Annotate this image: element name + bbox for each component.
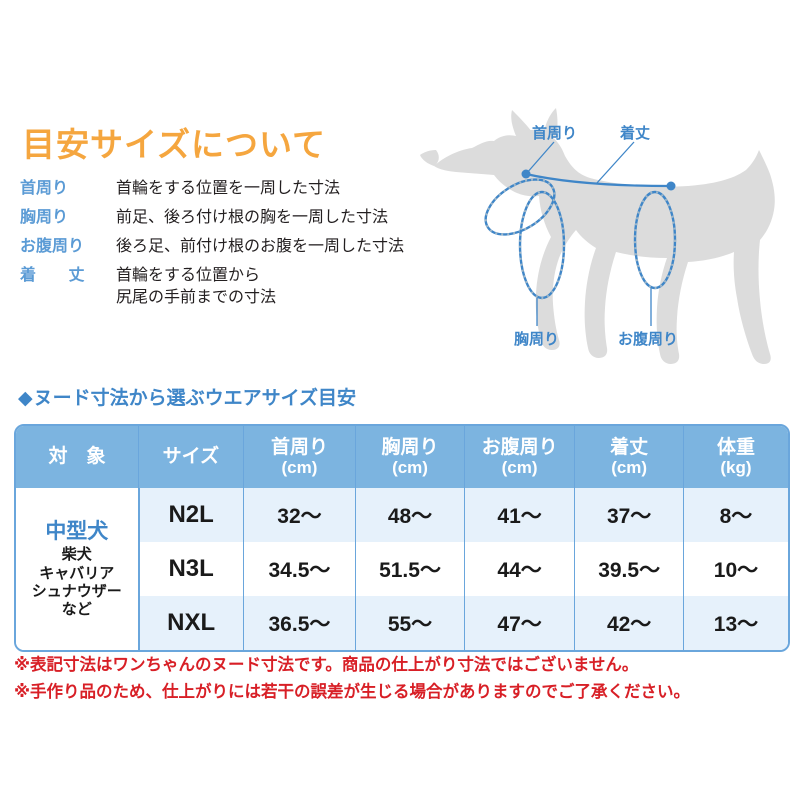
breed-item: シュナウザー [18, 583, 136, 601]
table-row: 中型犬 柴犬 キャバリア シュナウザー など N2L 32〜 48〜 41〜 3… [16, 488, 788, 542]
cell-weight: 8〜 [683, 488, 788, 542]
size-table-head: 対 象 サイズ 首周り (cm) 胸周り (cm) お腹周り [16, 426, 788, 488]
diagram-label-neck: 首周り [532, 122, 577, 143]
cell-belly: 41〜 [464, 488, 575, 542]
cell-size: NXL [139, 596, 244, 650]
cell-chest: 48〜 [356, 488, 465, 542]
header-size-label: サイズ [163, 446, 219, 467]
breed-item: 柴犬 [18, 546, 136, 564]
table-header-row: 対 象 サイズ 首周り (cm) 胸周り (cm) お腹周り [16, 426, 788, 488]
legend-term-belly: お腹周り [20, 236, 116, 258]
header-length: 着丈 (cm) [575, 426, 684, 488]
target-category-label: 中型犬 [18, 519, 136, 545]
cell-neck: 34.5〜 [243, 542, 356, 596]
legend-item-length: 着 丈 首輪をする位置から 尻尾の手前までの寸法 [20, 265, 440, 309]
cell-neck: 36.5〜 [243, 596, 356, 650]
note-line: ※表記寸法はワンちゃんのヌード寸法です。商品の仕上がり寸法ではございません。 [14, 652, 794, 679]
header-belly-label: お腹周り [482, 437, 558, 458]
legend-term-neck: 首周り [20, 178, 116, 200]
diamond-bullet-icon: ◆ [18, 388, 33, 409]
header-chest-label: 胸周り [382, 437, 439, 458]
legend-item-chest: 胸周り 前足、後ろ付け根の胸を一周した寸法 [20, 207, 440, 229]
size-chart-page: 目安サイズについて 首周り 首輪をする位置を一周した寸法 胸周り 前足、後ろ付け… [0, 0, 800, 800]
header-target-label: 対 象 [49, 446, 106, 467]
target-breed-list: 柴犬 キャバリア シュナウザー など [18, 546, 136, 619]
legend-desc-chest: 前足、後ろ付け根の胸を一周した寸法 [116, 207, 388, 229]
size-table-container: 対 象 サイズ 首周り (cm) 胸周り (cm) お腹周り [14, 424, 790, 652]
header-neck-unit: (cm) [244, 459, 356, 477]
header-belly: お腹周り (cm) [464, 426, 575, 488]
section-heading-text: ヌード寸法から選ぶウエアサイズ目安 [34, 388, 356, 409]
header-target: 対 象 [16, 426, 139, 488]
page-title: 目安サイズについて [22, 118, 326, 166]
disclaimer-notes: ※表記寸法はワンちゃんのヌード寸法です。商品の仕上がり寸法ではございません。 ※… [14, 652, 794, 706]
breed-item: キャバリア [18, 565, 136, 583]
dog-measurement-diagram: 首周り 着丈 胸周り お腹周り [420, 100, 800, 375]
header-length-label: 着丈 [610, 437, 648, 458]
breed-item: など [18, 601, 136, 619]
cell-belly: 47〜 [464, 596, 575, 650]
diagram-label-belly: お腹周り [618, 328, 678, 349]
size-table-body: 中型犬 柴犬 キャバリア シュナウザー など N2L 32〜 48〜 41〜 3… [16, 488, 788, 650]
legend-desc-neck: 首輪をする位置を一周した寸法 [116, 178, 340, 200]
header-neck: 首周り (cm) [243, 426, 356, 488]
cell-belly: 44〜 [464, 542, 575, 596]
header-length-unit: (cm) [575, 459, 683, 477]
cell-length: 37〜 [575, 488, 684, 542]
legend-item-belly: お腹周り 後ろ足、前付け根のお腹を一周した寸法 [20, 236, 440, 258]
legend-desc-length-line1: 首輪をする位置から [116, 267, 260, 284]
note-line: ※手作り品のため、仕上がりには若干の誤差が生じる場合がありますのでご了承ください… [14, 679, 794, 706]
legend-item-neck: 首周り 首輪をする位置を一周した寸法 [20, 178, 440, 200]
size-table: 対 象 サイズ 首周り (cm) 胸周り (cm) お腹周り [16, 426, 788, 650]
section-heading: ◆ヌード寸法から選ぶウエアサイズ目安 [18, 383, 356, 410]
cell-size: N2L [139, 488, 244, 542]
header-weight-unit: (kg) [684, 459, 788, 477]
measurement-legend: 首周り 首輪をする位置を一周した寸法 胸周り 前足、後ろ付け根の胸を一周した寸法… [20, 178, 440, 316]
header-belly-unit: (cm) [465, 459, 575, 477]
target-category-cell: 中型犬 柴犬 キャバリア シュナウザー など [16, 488, 139, 650]
cell-neck: 32〜 [243, 488, 356, 542]
diagram-label-chest: 胸周り [514, 328, 559, 349]
legend-desc-length-line2: 尻尾の手前までの寸法 [116, 287, 276, 309]
cell-size: N3L [139, 542, 244, 596]
legend-term-length: 着 丈 [20, 265, 116, 287]
cell-chest: 51.5〜 [356, 542, 465, 596]
header-weight-label: 体重 [717, 437, 755, 458]
legend-term-chest: 胸周り [20, 207, 116, 229]
dog-silhouette-icon [420, 108, 775, 364]
header-size: サイズ [139, 426, 244, 488]
diagram-label-length: 着丈 [620, 122, 650, 143]
cell-weight: 10〜 [683, 542, 788, 596]
header-chest-unit: (cm) [356, 459, 464, 477]
cell-length: 39.5〜 [575, 542, 684, 596]
header-neck-label: 首周り [271, 437, 328, 458]
legend-desc-length: 首輪をする位置から 尻尾の手前までの寸法 [116, 265, 276, 309]
cell-length: 42〜 [575, 596, 684, 650]
dog-diagram-svg [420, 100, 800, 375]
legend-desc-belly: 後ろ足、前付け根のお腹を一周した寸法 [116, 236, 404, 258]
header-weight: 体重 (kg) [683, 426, 788, 488]
cell-chest: 55〜 [356, 596, 465, 650]
header-chest: 胸周り (cm) [356, 426, 465, 488]
cell-weight: 13〜 [683, 596, 788, 650]
